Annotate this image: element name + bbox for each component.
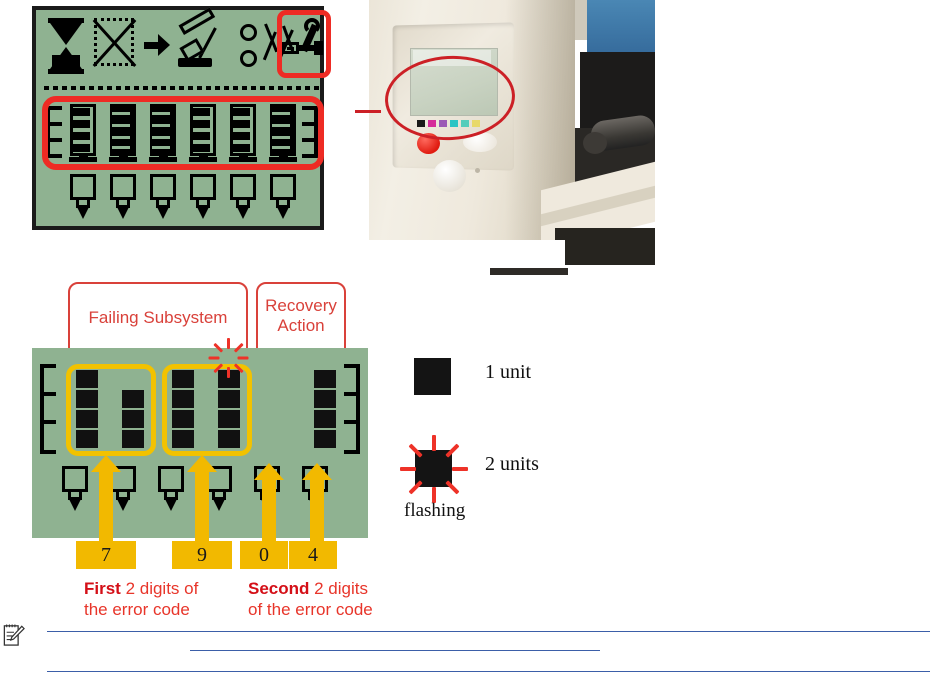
printhead-row [44,174,320,224]
digit-arrow-4 [302,463,332,550]
photo-navigation-button[interactable] [433,160,466,192]
digit-box-4: 4 [289,541,337,569]
printhead-glyph [158,466,184,514]
legend-flashing-sublabel: flashing [404,500,465,522]
second-digits-caption-rest: 2 digits [309,579,368,598]
scale-right [344,364,360,454]
digit-arrow-7 [91,455,121,550]
first-digits-caption: First 2 digits of the error code [84,578,239,620]
legend-two-units-label: 2 units [485,453,539,476]
printhead-icon [176,22,230,74]
footer-rule-middle [190,650,600,651]
printhead-glyph [270,174,296,222]
second-digits-caption-line2: of the error code [248,600,373,619]
photo-bottom-shadow [555,228,655,265]
service-icon-highlight [277,10,331,78]
printhead-glyph [62,466,88,514]
lcd-divider [44,86,320,90]
footer-rule-bottom [47,671,930,672]
digit-box-3: 0 [240,541,288,569]
photo-roller-end [583,132,607,154]
front-panel-lcd-screenshot [32,6,324,230]
lcd-icon-row [44,18,320,80]
legend-solid-square-icon [414,358,451,395]
segment-legend: 1 unit 2 units flashing [400,345,600,535]
first-digits-caption-line2: the error code [84,600,190,619]
footer-rule-top [47,631,930,632]
arrow-right-icon [144,34,170,56]
legend-flash-rays-icon [411,446,456,491]
hourglass-icon [48,18,84,74]
digit-arrow-0 [254,463,284,550]
legend-one-unit-label: 1 unit [485,361,531,384]
printhead-glyph [150,174,176,222]
photo-led-indicator [475,168,480,173]
printhead-glyph [70,174,96,222]
first-digits-caption-bold: First [84,579,121,598]
failing-subsystem-label: Failing Subsystem [72,308,244,328]
photo-edge-bar [490,268,568,275]
printhead-glyph [110,174,136,222]
first-digits-caption-rest: 2 digits of [121,579,199,598]
recovery-action-label: Recovery Action [258,296,344,336]
digit-box-1: 7 [76,541,136,569]
second-digits-caption: Second 2 digits of the error code [248,578,418,620]
code-bar-empty [270,370,292,450]
photo-bottom-white [355,240,565,265]
flashing-indicator [207,336,251,380]
error-bar-row-highlight [42,96,324,170]
printer-control-panel-photo [355,0,655,265]
digit-arrow-9 [187,455,217,550]
digit-box-2: 9 [172,541,232,569]
note-pencil-icon [3,622,25,648]
callout-arrow-line [355,110,381,113]
lcd-error-bar-row [44,98,322,170]
printhead-glyph [190,174,216,222]
printhead-glyph [230,174,256,222]
second-digits-caption-bold: Second [248,579,309,598]
photo-blue-lid [587,0,655,58]
service-wrench-icon [282,16,326,74]
no-paper-icon [92,18,138,70]
scale-left [40,364,56,454]
